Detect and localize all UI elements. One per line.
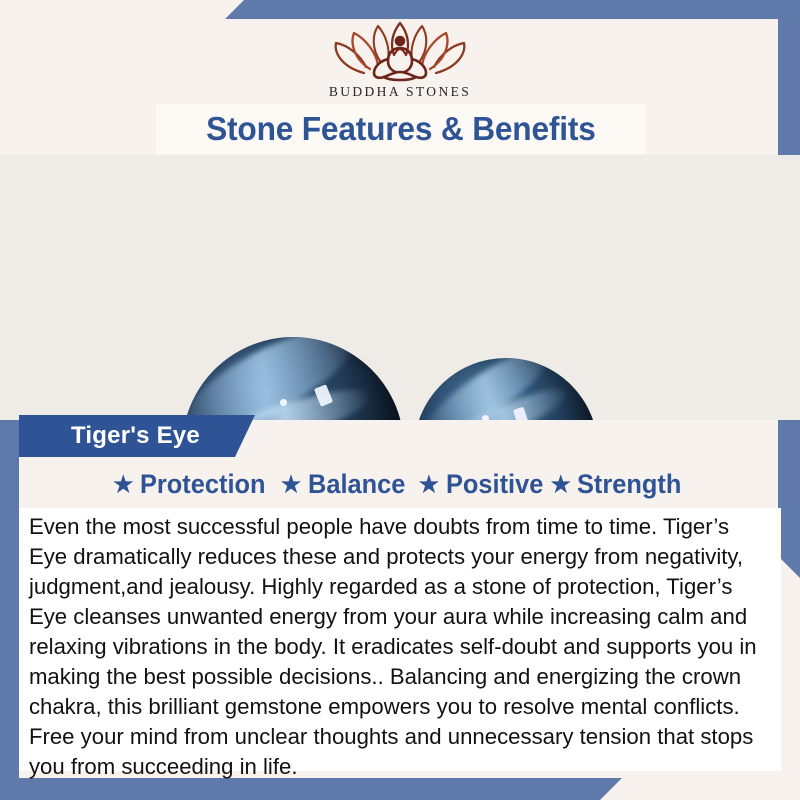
benefits-row: ★ Protection ★ Balance ★ Positive ★ Stre… <box>0 462 800 506</box>
benefit-label: Strength <box>577 469 681 500</box>
benefit-item-strength: ★ Strength <box>549 469 688 500</box>
benefit-label: Balance <box>308 469 405 500</box>
star-icon: ★ <box>279 471 302 497</box>
brand-header: BUDDHA STONES <box>0 0 800 110</box>
star-icon: ★ <box>112 471 135 497</box>
page-title: Stone Features & Benefits <box>206 110 596 148</box>
description-panel: Even the most successful people have dou… <box>19 508 781 771</box>
brand-logo: BUDDHA STONES <box>329 17 471 100</box>
stone-name-label: Tiger's Eye <box>71 422 200 450</box>
description-text: Even the most successful people have dou… <box>25 512 770 782</box>
title-band: Stone Features & Benefits <box>156 104 646 154</box>
star-icon: ★ <box>417 471 440 497</box>
benefit-label: Protection <box>140 469 266 500</box>
brand-wordmark: BUDDHA STONES <box>329 84 471 100</box>
benefit-item-protection: ★ Protection <box>112 469 274 500</box>
gemstone-sphere-large <box>182 337 404 420</box>
gemstone-photo <box>0 155 800 420</box>
lotus-meditation-icon <box>330 17 470 83</box>
benefit-label: Positive <box>446 469 543 500</box>
infographic-page: BUDDHA STONES Stone Features & Benefits <box>0 0 800 800</box>
gemstone-sphere-medium <box>414 358 598 420</box>
star-icon: ★ <box>549 471 572 497</box>
benefit-item-positive: ★ Positive <box>417 469 549 500</box>
stone-name-banner: Tiger's Eye <box>19 415 255 457</box>
benefit-item-balance: ★ Balance <box>279 469 411 500</box>
